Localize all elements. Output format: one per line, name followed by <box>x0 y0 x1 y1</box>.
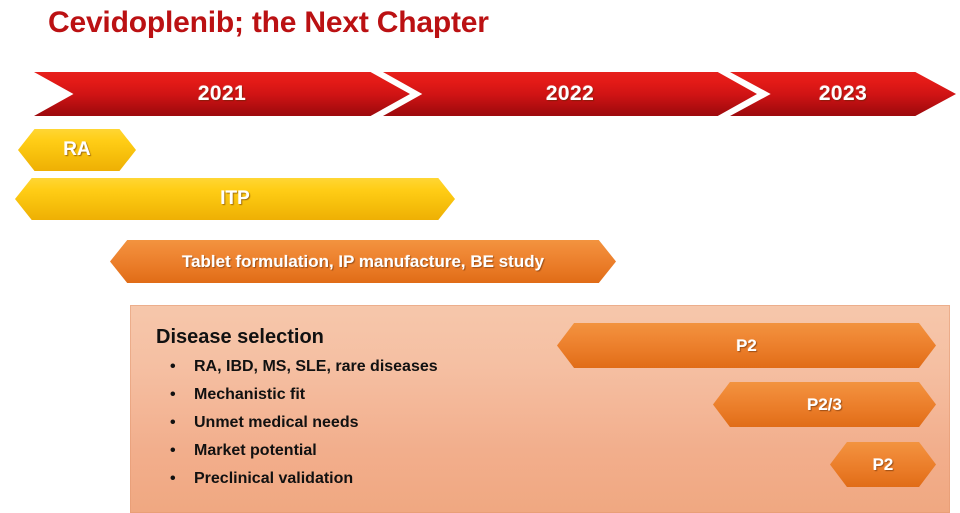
phase-bar-label: P2 <box>736 336 757 356</box>
timeline-year-2021[interactable]: 2021 <box>34 72 410 116</box>
list-item: • Preclinical validation <box>160 469 438 488</box>
program-bar-itp[interactable]: ITP <box>15 178 455 220</box>
program-bar-tablet-formulation[interactable]: Tablet formulation, IP manufacture, BE s… <box>110 240 616 283</box>
list-item-label: Preclinical validation <box>194 470 353 487</box>
timeline-year-2022[interactable]: 2022 <box>383 72 757 116</box>
list-item: • RA, IBD, MS, SLE, rare diseases <box>160 357 438 376</box>
list-item: • Mechanistic fit <box>160 385 438 404</box>
phase-bar-p2-upper[interactable]: P2 <box>557 323 936 368</box>
list-item-label: Market potential <box>194 442 317 459</box>
phase-bar-label: P2 <box>873 455 894 475</box>
bullet-dot-icon: • <box>170 385 176 404</box>
phase-bar-p2-3[interactable]: P2/3 <box>713 382 936 427</box>
timeline-year-label: 2023 <box>819 82 867 106</box>
disease-selection-bullet-list: • RA, IBD, MS, SLE, rare diseases • Mech… <box>160 357 438 497</box>
bullet-dot-icon: • <box>170 413 176 432</box>
page-title: Cevidoplenib; the Next Chapter <box>48 6 489 40</box>
timeline-year-2023[interactable]: 2023 <box>730 72 956 116</box>
timeline-year-label: 2022 <box>546 82 594 106</box>
list-item-label: Unmet medical needs <box>194 414 359 431</box>
phase-bar-label: P2/3 <box>807 395 842 415</box>
list-item-label: Mechanistic fit <box>194 386 305 403</box>
list-item-label: RA, IBD, MS, SLE, rare diseases <box>194 358 438 375</box>
program-bar-label: ITP <box>220 188 250 210</box>
slide-canvas: Cevidoplenib; the Next Chapter 2021 2022… <box>0 0 960 513</box>
program-bar-label: Tablet formulation, IP manufacture, BE s… <box>182 252 544 272</box>
phase-bar-p2-lower[interactable]: P2 <box>830 442 936 487</box>
list-item: • Market potential <box>160 441 438 460</box>
bullet-dot-icon: • <box>170 441 176 460</box>
program-bar-ra[interactable]: RA <box>18 129 136 171</box>
program-bar-label: RA <box>63 139 90 161</box>
list-item: • Unmet medical needs <box>160 413 438 432</box>
timeline-year-label: 2021 <box>198 82 246 106</box>
disease-selection-title: Disease selection <box>156 326 324 349</box>
bullet-dot-icon: • <box>170 469 176 488</box>
bullet-dot-icon: • <box>170 357 176 376</box>
